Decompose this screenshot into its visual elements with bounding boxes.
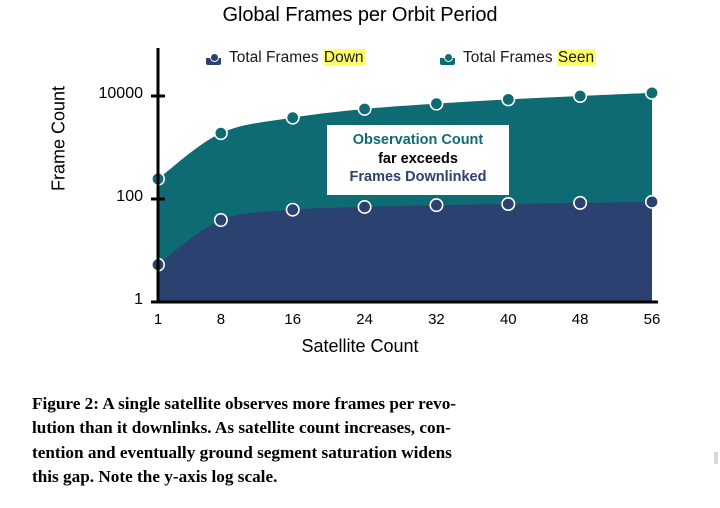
x-axis-label: Satellite Count [0,336,720,357]
data-point-seen-48[interactable] [574,90,586,102]
x-tick-label-16: 16 [263,311,323,328]
figure-chart: Global Frames per Orbit Period Total Fra… [0,0,720,380]
x-tick-label-8: 8 [191,311,251,328]
data-point-seen-32[interactable] [430,97,442,109]
data-point-down-48[interactable] [574,197,586,209]
annotation-line-2: far exceeds [335,150,501,169]
data-point-down-32[interactable] [430,199,442,211]
caption-line: tention and eventually ground segment sa… [32,441,692,465]
y-tick-label-10000: 10000 [28,85,143,103]
data-point-seen-8[interactable] [215,127,227,139]
x-tick-label-1: 1 [128,311,188,328]
x-tick-label-24: 24 [335,311,395,328]
caption-line: lution than it downlinks. As satellite c… [32,416,692,440]
data-point-down-8[interactable] [215,214,227,226]
x-tick-label-56: 56 [622,311,682,328]
x-tick-label-48: 48 [550,311,610,328]
page-edge-artifact [714,452,718,464]
caption-line: this gap. Note the y-axis log scale. [32,465,692,489]
data-point-down-24[interactable] [358,201,370,213]
data-point-down-40[interactable] [502,198,514,210]
x-tick-label-40: 40 [478,311,538,328]
data-point-down-16[interactable] [287,203,299,215]
caption-line: Figure 2: A single satellite observes mo… [32,392,692,416]
data-point-seen-24[interactable] [358,103,370,115]
figure-caption: Figure 2: A single satellite observes mo… [32,392,692,490]
annotation-line-1: Observation Count [335,131,501,150]
area-total-frames-down [158,202,652,302]
data-point-down-56[interactable] [646,196,658,208]
y-tick-label-1: 1 [28,291,143,309]
annotation-box: Observation Count far exceeds Frames Dow… [327,125,509,195]
data-point-seen-56[interactable] [646,87,658,99]
x-tick-label-32: 32 [406,311,466,328]
y-tick-label-100: 100 [28,188,143,206]
data-point-seen-40[interactable] [502,93,514,105]
data-point-seen-16[interactable] [287,111,299,123]
annotation-line-3: Frames Downlinked [335,168,501,187]
